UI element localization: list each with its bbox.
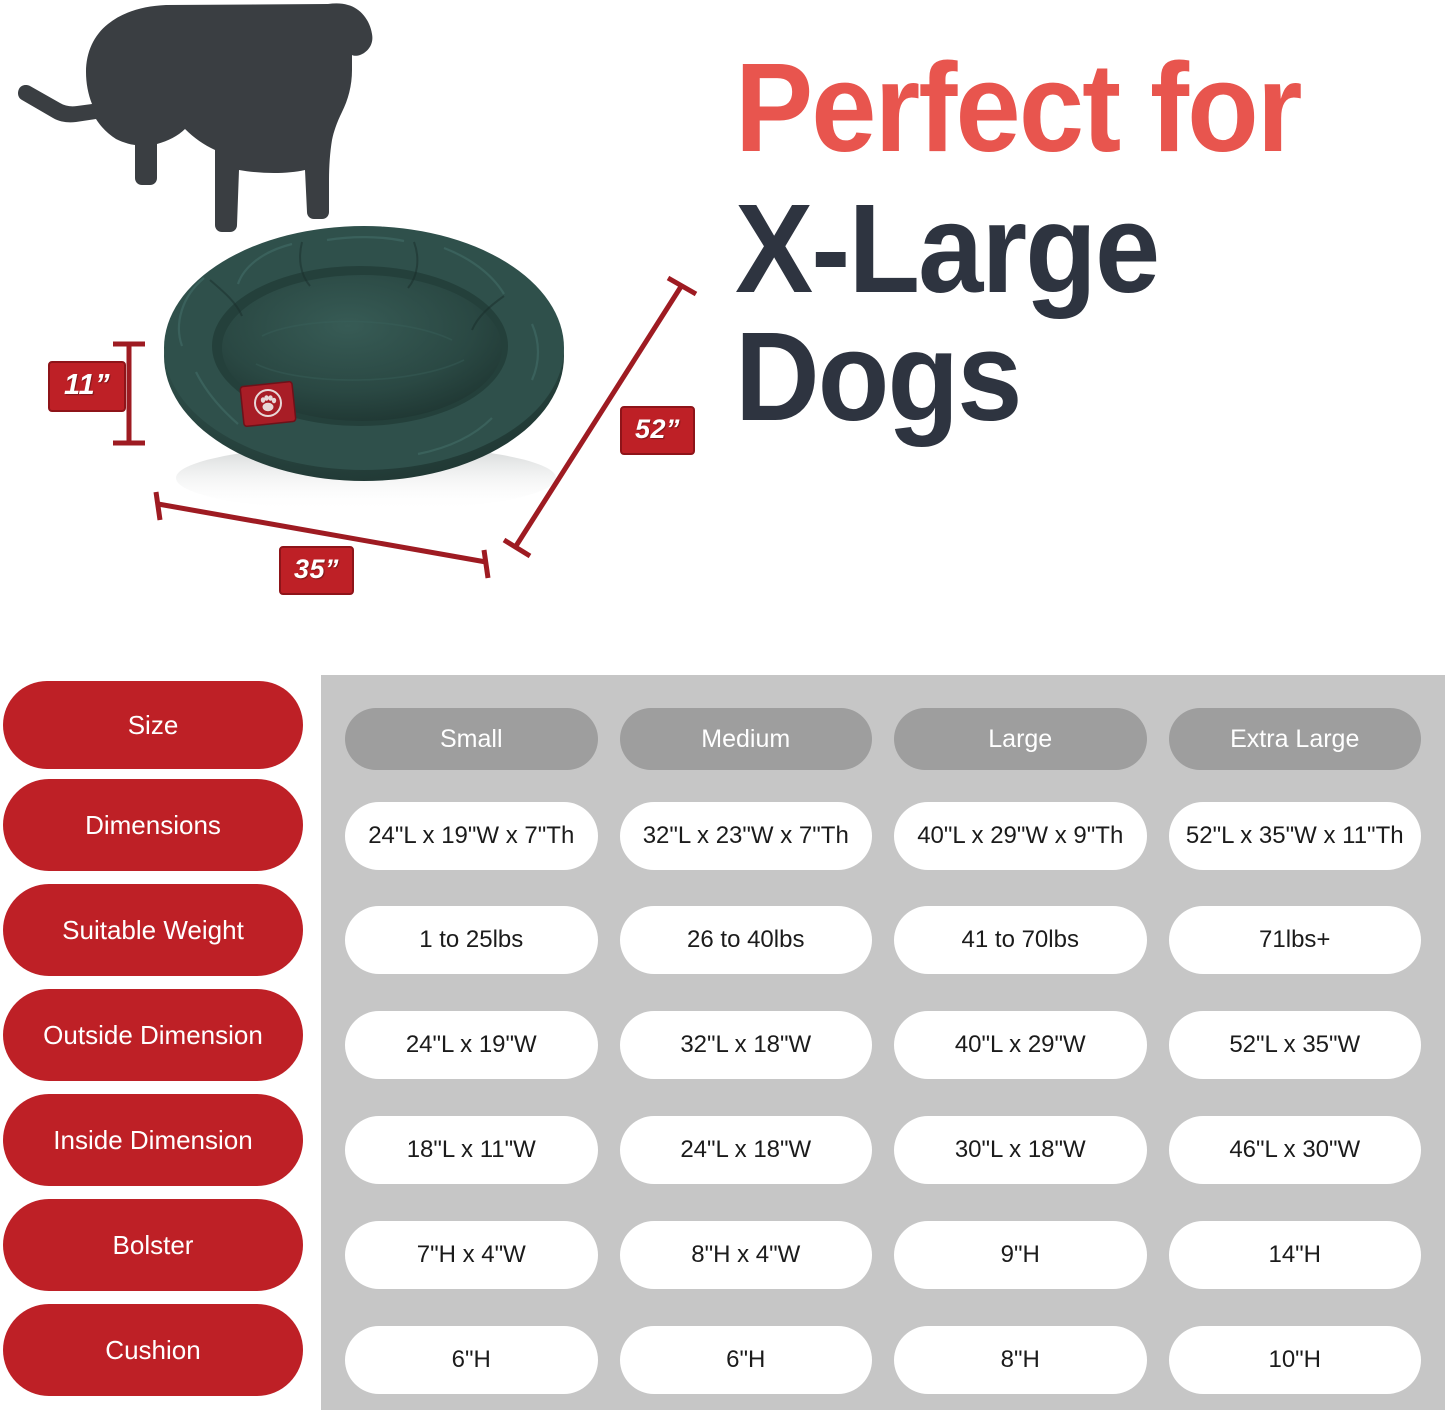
spec-table-row: 24"L x 19"W32"L x 18"W40"L x 29"W52"L x … bbox=[345, 1011, 1421, 1079]
headline-block: Perfect for X-Large Dogs bbox=[735, 48, 1435, 440]
headline-line-2: X-Large bbox=[735, 186, 1386, 312]
spec-header-row: SmallMediumLargeExtra Large bbox=[345, 708, 1421, 770]
spec-cell: 40"L x 29"W x 9"Th bbox=[894, 802, 1147, 870]
spec-cell: 24"L x 19"W bbox=[345, 1011, 598, 1079]
spec-cell: 8"H bbox=[894, 1326, 1147, 1394]
spec-row-labels: SizeDimensionsSuitable WeightOutside Dim… bbox=[3, 675, 303, 1410]
spec-cell: 7"H x 4"W bbox=[345, 1221, 598, 1289]
spec-row-label-suitable-weight: Suitable Weight bbox=[3, 884, 303, 976]
spec-table-row: 7"H x 4"W8"H x 4"W9"H14"H bbox=[345, 1221, 1421, 1289]
hero-section: 11” 52” 35” Perfect for X-Large Dogs bbox=[0, 0, 1445, 668]
spec-cell: 1 to 25lbs bbox=[345, 906, 598, 974]
spec-row-label-size: Size bbox=[3, 681, 303, 769]
spec-cell: 40"L x 29"W bbox=[894, 1011, 1147, 1079]
spec-row-label-dimensions: Dimensions bbox=[3, 779, 303, 871]
spec-cell: 30"L x 18"W bbox=[894, 1116, 1147, 1184]
spec-cell: 8"H x 4"W bbox=[620, 1221, 873, 1289]
spec-column-header-small: Small bbox=[345, 708, 598, 770]
spec-cell: 6"H bbox=[620, 1326, 873, 1394]
spec-cell: 32"L x 18"W bbox=[620, 1011, 873, 1079]
headline-line-1: Perfect for bbox=[735, 48, 1386, 168]
spec-cell: 71lbs+ bbox=[1169, 906, 1422, 974]
spec-cell: 52"L x 35"W x 11"Th bbox=[1169, 802, 1422, 870]
spec-cell: 9"H bbox=[894, 1221, 1147, 1289]
callout-depth: 52” bbox=[620, 406, 695, 455]
spec-cell: 52"L x 35"W bbox=[1169, 1011, 1422, 1079]
spec-cell: 10"H bbox=[1169, 1326, 1422, 1394]
spec-cell: 26 to 40lbs bbox=[620, 906, 873, 974]
brand-tag bbox=[240, 381, 296, 426]
spec-row-label-inside-dimension: Inside Dimension bbox=[3, 1094, 303, 1186]
spec-cell: 24"L x 18"W bbox=[620, 1116, 873, 1184]
infographic-page: 11” 52” 35” Perfect for X-Large Dogs Sma… bbox=[0, 0, 1445, 1410]
callout-width: 35” bbox=[279, 546, 354, 595]
spec-cell: 24"L x 19"W x 7"Th bbox=[345, 802, 598, 870]
spec-table-row: 6"H6"H8"H10"H bbox=[345, 1326, 1421, 1394]
spec-cell: 41 to 70lbs bbox=[894, 906, 1147, 974]
spec-row-label-cushion: Cushion bbox=[3, 1304, 303, 1396]
spec-table-row: 1 to 25lbs26 to 40lbs41 to 70lbs71lbs+ bbox=[345, 906, 1421, 974]
spec-table-row: 24"L x 19"W x 7"Th32"L x 23"W x 7"Th40"L… bbox=[345, 802, 1421, 870]
spec-row-label-bolster: Bolster bbox=[3, 1199, 303, 1291]
spec-column-header-medium: Medium bbox=[620, 708, 873, 770]
spec-cell: 6"H bbox=[345, 1326, 598, 1394]
spec-column-header-extra-large: Extra Large bbox=[1169, 708, 1422, 770]
spec-row-label-outside-dimension: Outside Dimension bbox=[3, 989, 303, 1081]
spec-cell: 14"H bbox=[1169, 1221, 1422, 1289]
spec-table-row: 18"L x 11"W24"L x 18"W30"L x 18"W46"L x … bbox=[345, 1116, 1421, 1184]
dog-bed-product-photo bbox=[152, 196, 572, 526]
headline-line-3: Dogs bbox=[735, 314, 1386, 440]
spec-column-header-large: Large bbox=[894, 708, 1147, 770]
spec-cell: 32"L x 23"W x 7"Th bbox=[620, 802, 873, 870]
spec-cell: 18"L x 11"W bbox=[345, 1116, 598, 1184]
spec-cell: 46"L x 30"W bbox=[1169, 1116, 1422, 1184]
callout-height: 11” bbox=[48, 361, 126, 412]
spec-table-panel: SmallMediumLargeExtra Large24"L x 19"W x… bbox=[321, 675, 1445, 1410]
